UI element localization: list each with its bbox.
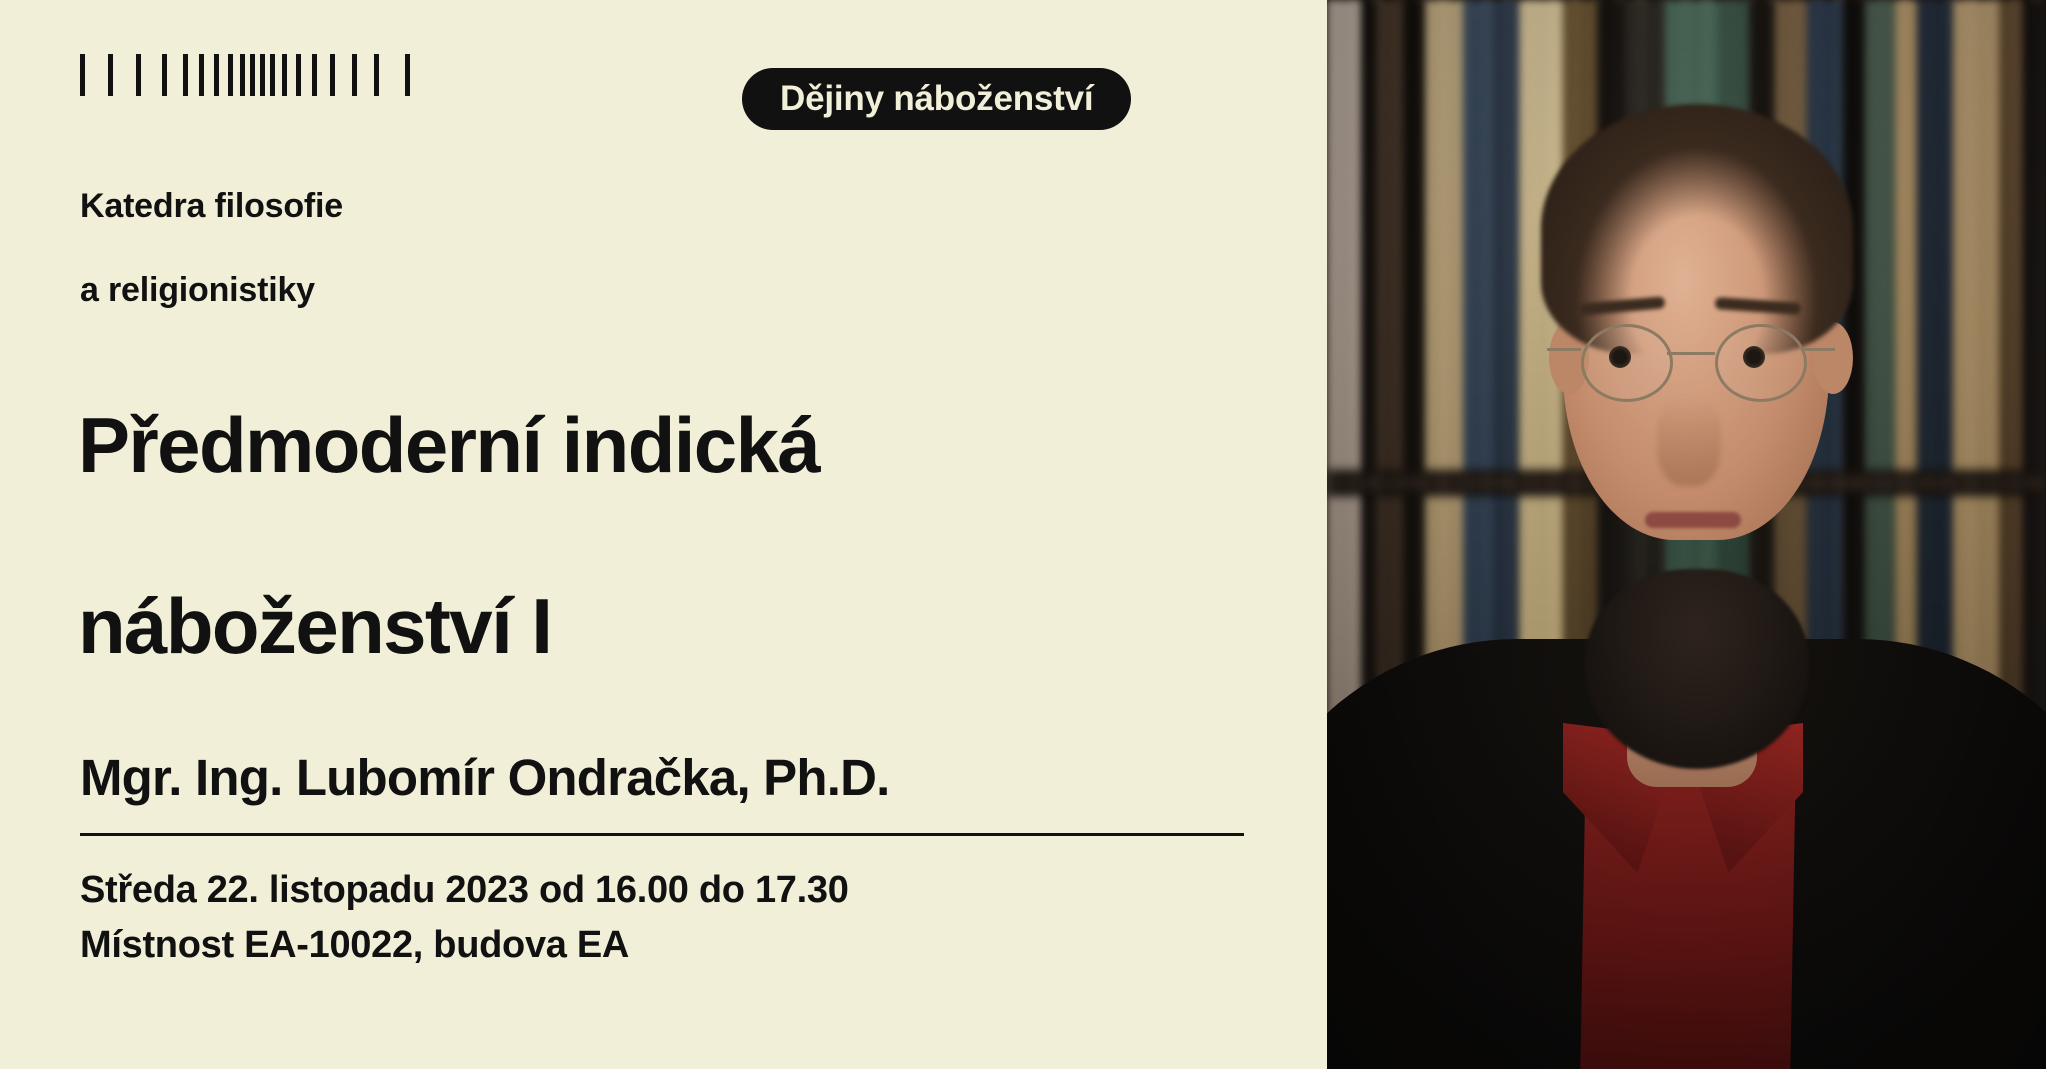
- page-title-line-1: Předmoderní indická: [78, 401, 819, 489]
- tally-bars-logo-icon: [80, 54, 410, 96]
- department-logo: [80, 54, 410, 96]
- course-badge[interactable]: Dějiny náboženství: [742, 68, 1131, 130]
- department-name-line-2: a religionistiky: [80, 269, 343, 311]
- beard: [1585, 569, 1809, 769]
- hair: [1541, 104, 1853, 354]
- pupil-left: [1609, 346, 1631, 368]
- glasses-temple-right: [1801, 348, 1835, 351]
- event-datetime: Středa 22. listopadu 2023 od 16.00 do 17…: [80, 863, 849, 918]
- glasses-bridge: [1667, 352, 1715, 355]
- event-poster: Katedra filosofie a religionistiky Dějin…: [0, 0, 2046, 1069]
- event-location: Místnost EA-10022, budova EA: [80, 918, 849, 973]
- department-name-line-1: Katedra filosofie: [80, 185, 343, 227]
- page-title-line-2: náboženství I: [78, 582, 551, 670]
- glasses-icon: [1555, 318, 1845, 398]
- event-details: Středa 22. listopadu 2023 od 16.00 do 17…: [80, 863, 849, 973]
- speaker-photo: [1327, 0, 2046, 1069]
- horizontal-divider: [80, 833, 1244, 836]
- page-title: Předmoderní indická náboženství I: [78, 310, 1258, 672]
- mouth: [1645, 512, 1741, 528]
- photo-scene: [1327, 0, 2046, 1069]
- nose: [1657, 396, 1721, 486]
- glasses-temple-left: [1547, 348, 1581, 351]
- speaker-figure: [1327, 0, 2046, 1069]
- pupil-right: [1743, 346, 1765, 368]
- speaker-name: Mgr. Ing. Lubomír Ondračka, Ph.D.: [80, 748, 890, 807]
- poster-text-panel: Katedra filosofie a religionistiky Dějin…: [0, 0, 1327, 1069]
